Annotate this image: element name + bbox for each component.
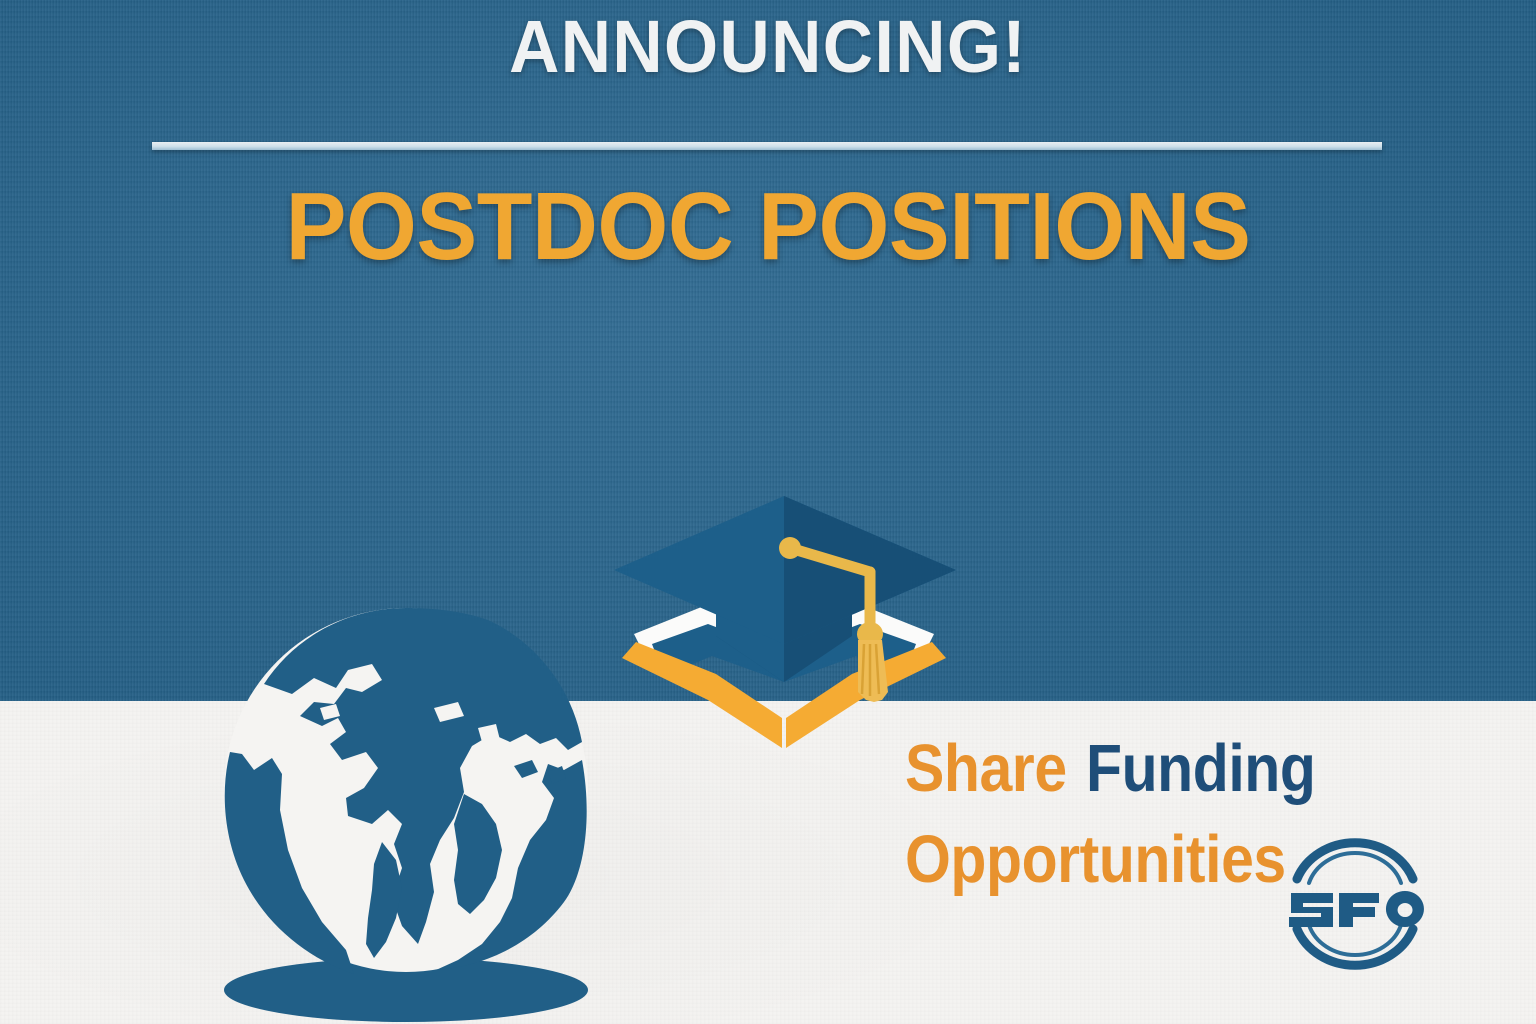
page-subtitle: POSTDOC POSITIONS [38, 178, 1497, 276]
brand-lockup: ShareFunding Opportunities [905, 731, 1425, 966]
graduation-cap-icon [612, 486, 984, 758]
brand-word-funding: Funding [1086, 731, 1315, 806]
brand-word-opportunities: Opportunities [905, 822, 1286, 897]
page-title: ANNOUNCING! [46, 8, 1490, 86]
brand-word-share: Share [905, 731, 1067, 806]
postdoc-announcement-poster: ANNOUNCING! POSTDOC POSITIONS [0, 0, 1536, 1024]
brand-tagline-line-1: ShareFunding [905, 735, 1315, 802]
globe-icon [196, 592, 616, 1024]
brand-tagline-line-2: Opportunities [905, 826, 1286, 893]
divider-rule [152, 142, 1382, 150]
sfo-logo [1275, 833, 1435, 975]
